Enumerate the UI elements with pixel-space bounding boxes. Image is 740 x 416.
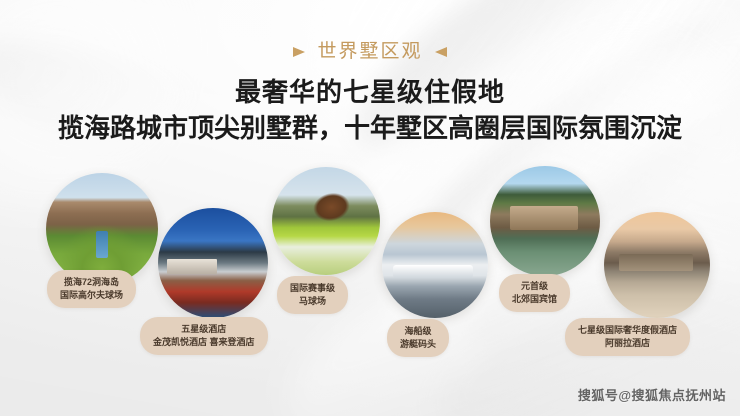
poster-canvas: 世界墅区观 最奢华的七星级住假地 揽海路城市顶尖别墅群，十年墅区高圈层国际氛围沉…: [0, 0, 740, 416]
page-title: 最奢华的七星级住假地: [0, 76, 740, 109]
caption-line-1: 七星级国际奢华度假酒店: [578, 324, 677, 337]
feature-caption-five-star-hotel: 五星级酒店 金茂凯悦酒店 喜来登酒店: [140, 317, 268, 355]
feature-image-polo[interactable]: [272, 167, 380, 275]
feature-image-state-guesthouse[interactable]: [490, 166, 600, 276]
feature-caption-state-guesthouse: 元首级 北郊国宾馆: [499, 274, 570, 312]
caption-line-1: 五星级酒店: [153, 323, 255, 336]
feature-image-golf[interactable]: [46, 173, 158, 285]
eyebrow-badge: 世界墅区观: [293, 42, 446, 61]
feature-photo: [272, 167, 380, 275]
feature-caption-polo: 国际赛事级 马球场: [277, 276, 348, 314]
triangle-right-icon: [293, 47, 305, 57]
page-subtitle: 揽海路城市顶尖别墅群，十年墅区高圈层国际氛围沉淀: [0, 112, 740, 145]
caption-line-1: 海船级: [400, 325, 436, 338]
feature-image-five-star-hotel[interactable]: [158, 208, 268, 318]
feature-caption-marina: 海船级 游艇码头: [387, 319, 449, 357]
caption-line-2: 马球场: [290, 295, 335, 308]
caption-line-2: 北郊国宾馆: [512, 293, 557, 306]
caption-line-2: 国际高尔夫球场: [60, 289, 123, 302]
feature-caption-golf: 揽海72洞海岛 国际高尔夫球场: [47, 270, 136, 308]
eyebrow-label: 世界墅区观: [317, 42, 422, 61]
feature-photo: [46, 173, 158, 285]
feature-photo: [490, 166, 600, 276]
feature-image-marina[interactable]: [382, 212, 488, 318]
watermark: 搜狐号@搜狐焦点抚州站: [578, 385, 726, 404]
feature-photo: [158, 208, 268, 318]
feature-image-alila[interactable]: [604, 212, 710, 318]
caption-line-1: 揽海72洞海岛: [60, 276, 123, 289]
caption-line-1: 元首级: [512, 280, 557, 293]
feature-caption-alila: 七星级国际奢华度假酒店 阿丽拉酒店: [565, 318, 690, 356]
caption-line-2: 阿丽拉酒店: [578, 337, 677, 350]
header: 世界墅区观 最奢华的七星级住假地 揽海路城市顶尖别墅群，十年墅区高圈层国际氛围沉…: [0, 42, 740, 145]
feature-photo: [604, 212, 710, 318]
caption-line-2: 金茂凯悦酒店 喜来登酒店: [153, 336, 255, 349]
caption-line-1: 国际赛事级: [290, 282, 335, 295]
triangle-left-icon: [435, 47, 447, 57]
feature-photo: [382, 212, 488, 318]
caption-line-2: 游艇码头: [400, 338, 436, 351]
